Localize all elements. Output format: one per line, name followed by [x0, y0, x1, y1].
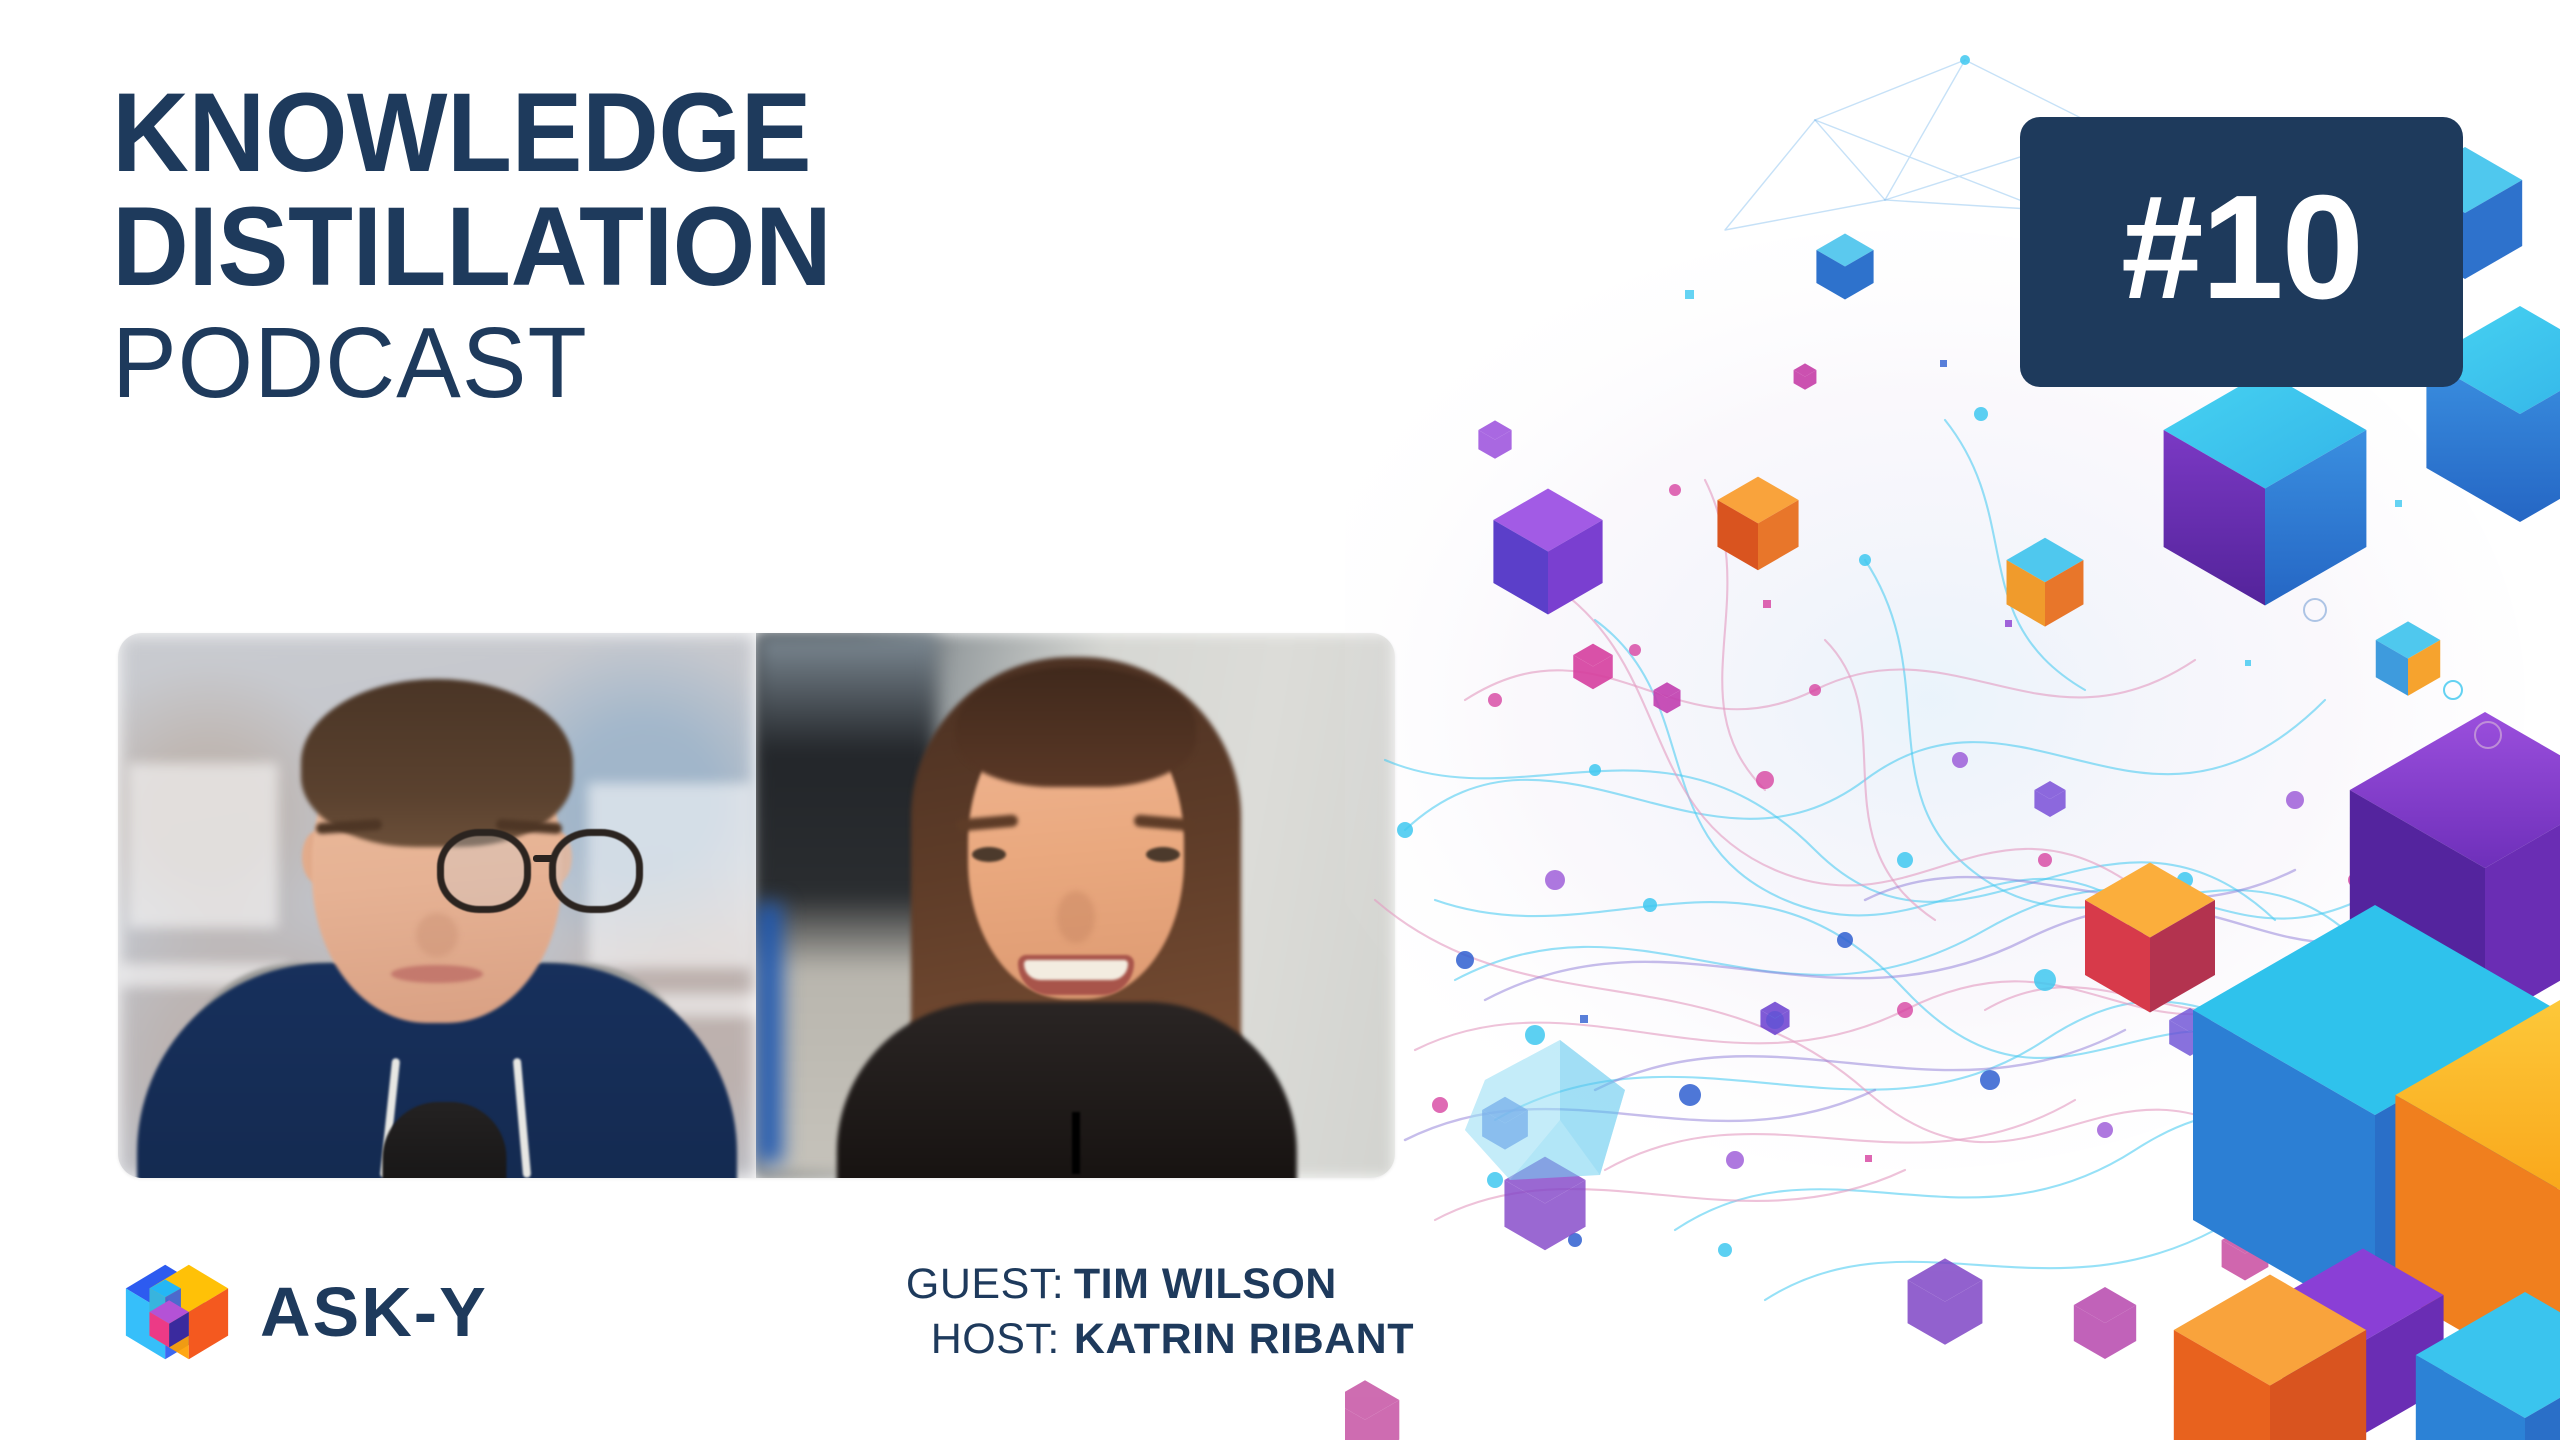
credits-block: GUEST: TIM WILSON HOST: KATRIN RIBANT — [906, 1257, 1414, 1367]
guest-bg-frame-1 — [128, 763, 278, 928]
brand-name: ASK-Y — [260, 1277, 488, 1347]
page-title-line-1: KNOWLEDGE — [112, 78, 831, 188]
footer: ASK-Y GUEST: TIM WILSON HOST: KATRIN RIB… — [118, 1245, 1408, 1385]
host-label: HOST: — [906, 1312, 1074, 1367]
episode-number-label: #10 — [2121, 174, 2362, 322]
host-nose — [1057, 891, 1095, 943]
host-torso — [836, 1002, 1296, 1178]
guest-label: GUEST: — [906, 1257, 1074, 1312]
host-name: KATRIN RIBANT — [1074, 1312, 1414, 1367]
episode-number-badge: #10 — [2020, 117, 2463, 387]
speaker-photo-strip — [118, 633, 1395, 1178]
host-zipper — [1072, 1112, 1080, 1174]
host-teeth — [1024, 960, 1128, 980]
host-hair-front — [956, 667, 1196, 787]
page-title-line-3: PODCAST — [112, 314, 846, 412]
host-background-accent — [756, 903, 782, 1163]
isometric-cube-logo-icon — [118, 1253, 236, 1371]
guest-glasses-lens-right — [549, 829, 643, 913]
page-title-line-2: DISTILLATION — [112, 192, 831, 302]
host-portrait — [756, 633, 1395, 1178]
guest-glasses-lens-left — [437, 829, 531, 913]
credit-row-host: HOST: KATRIN RIBANT — [906, 1312, 1414, 1367]
host-eye-right — [1146, 847, 1180, 862]
guest-glasses-bridge — [533, 855, 555, 862]
host-smile — [1018, 955, 1134, 995]
guest-mouth — [391, 965, 483, 983]
guest-portrait — [118, 633, 756, 1178]
credit-row-guest: GUEST: TIM WILSON — [906, 1257, 1414, 1312]
guest-name: TIM WILSON — [1074, 1257, 1337, 1312]
guest-nose — [416, 913, 458, 957]
podcast-title-block: KNOWLEDGE DISTILLATION PODCAST — [112, 78, 869, 412]
host-eye-left — [972, 847, 1006, 862]
brand-logo[interactable]: ASK-Y — [118, 1253, 488, 1371]
